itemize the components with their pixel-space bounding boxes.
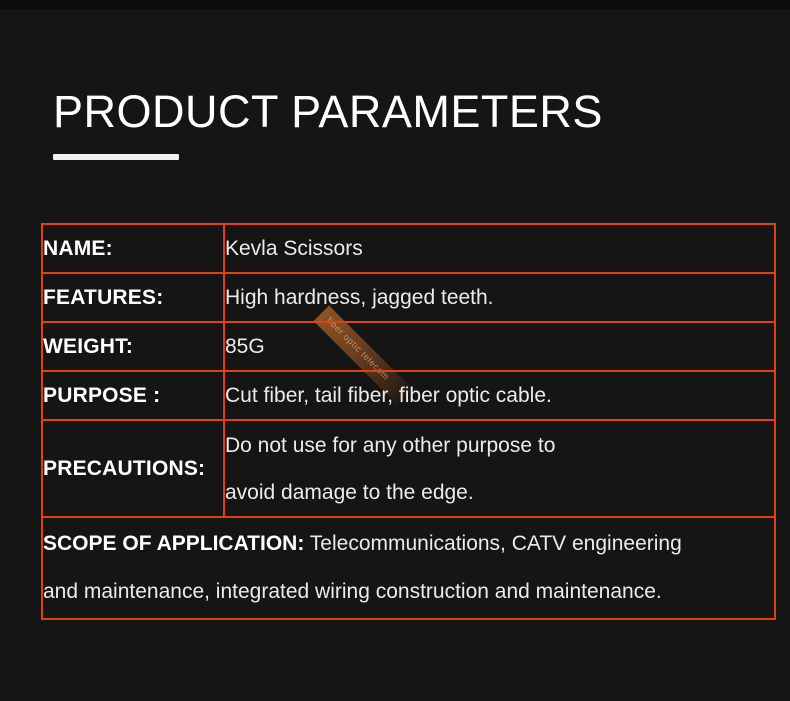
top-edge-band (0, 0, 790, 9)
page-title: PRODUCT PARAMETERS (53, 86, 603, 138)
row-value-name: Kevla Scissors (224, 224, 775, 273)
scope-line-2: and maintenance, integrated wiring const… (43, 568, 774, 616)
row-value-precautions: Do not use for any other purpose to avoi… (224, 420, 775, 517)
row-value-purpose: Cut fiber, tail fiber, fiber optic cable… (224, 371, 775, 420)
value-line: 85G (225, 323, 774, 370)
table-row: FEATURES: High hardness, jagged teeth. (42, 273, 775, 322)
product-parameters-table: NAME: Kevla Scissors FEATURES: High hard… (41, 223, 776, 620)
row-value-features: High hardness, jagged teeth. (224, 273, 775, 322)
value-line: avoid damage to the edge. (225, 469, 774, 516)
product-parameters-page: PRODUCT PARAMETERS fiber optic telecom N… (0, 0, 790, 701)
scope-line-1: SCOPE OF APPLICATION: Telecommunications… (43, 520, 774, 568)
table-row: WEIGHT: 85G (42, 322, 775, 371)
title-block: PRODUCT PARAMETERS (53, 86, 603, 160)
row-label-name: NAME: (42, 224, 224, 273)
row-value-weight: 85G (224, 322, 775, 371)
table-row: NAME: Kevla Scissors (42, 224, 775, 273)
value-line: Kevla Scissors (225, 225, 774, 272)
table-row: PRECAUTIONS: Do not use for any other pu… (42, 420, 775, 517)
table-row-scope: SCOPE OF APPLICATION: Telecommunications… (42, 517, 775, 619)
row-scope-of-application: SCOPE OF APPLICATION: Telecommunications… (42, 517, 775, 619)
row-label-features: FEATURES: (42, 273, 224, 322)
title-underline-rule (53, 154, 179, 160)
table-row: PURPOSE : Cut fiber, tail fiber, fiber o… (42, 371, 775, 420)
row-label-precautions: PRECAUTIONS: (42, 420, 224, 517)
value-line: High hardness, jagged teeth. (225, 274, 774, 321)
scope-value-part-1: Telecommunications, CATV engineering (304, 532, 681, 555)
row-label-purpose: PURPOSE : (42, 371, 224, 420)
row-label-weight: WEIGHT: (42, 322, 224, 371)
value-line: Cut fiber, tail fiber, fiber optic cable… (225, 372, 774, 419)
value-line: Do not use for any other purpose to (225, 422, 774, 469)
scope-label: SCOPE OF APPLICATION: (43, 532, 304, 555)
